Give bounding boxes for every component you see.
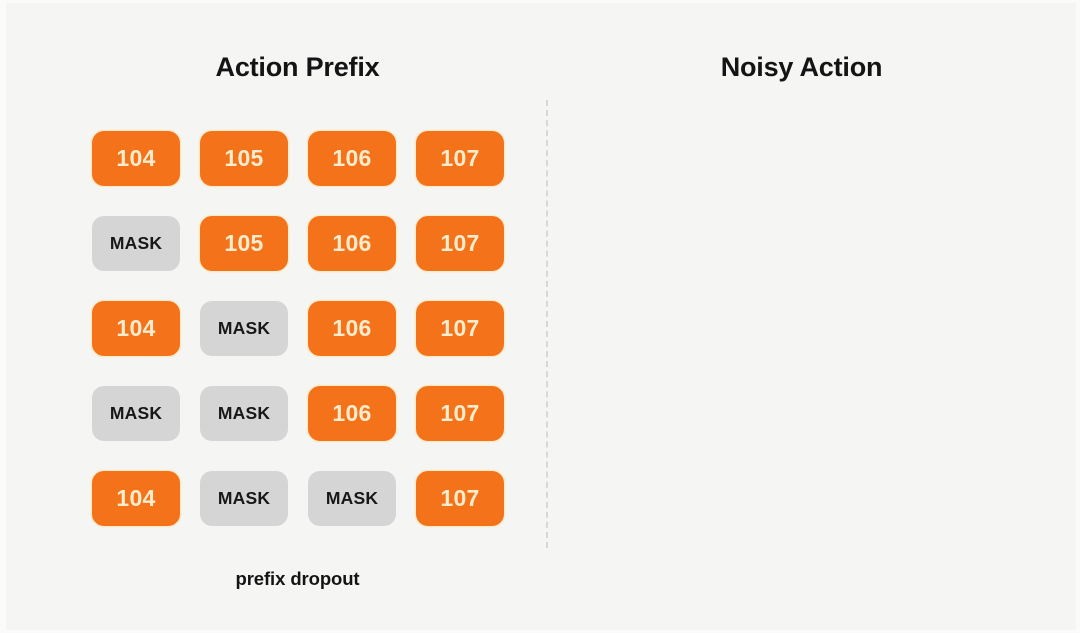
- token-row: MASK105106107: [92, 216, 504, 271]
- token-chip: 107: [416, 471, 504, 526]
- token-chip: 106: [308, 386, 396, 441]
- token-row: 104MASKMASK107: [92, 471, 504, 526]
- token-grid-action-prefix: 104105106107MASK105106107104MASK106107MA…: [92, 131, 504, 526]
- token-chip: 104: [92, 471, 180, 526]
- token-chip: 106: [308, 131, 396, 186]
- token-row: MASKMASK106107: [92, 386, 504, 441]
- token-chip: 105: [200, 131, 288, 186]
- token-chip: 106: [308, 216, 396, 271]
- mask-chip: MASK: [308, 471, 396, 526]
- mask-chip: MASK: [200, 301, 288, 356]
- figure-canvas: Action Prefix 104105106107MASK1051061071…: [0, 0, 1080, 633]
- token-chip: 107: [416, 131, 504, 186]
- panel-title-noisy-action: Noisy Action: [532, 47, 1071, 87]
- token-chip: 107: [416, 216, 504, 271]
- mask-chip: MASK: [92, 386, 180, 441]
- token-chip: 107: [416, 386, 504, 441]
- token-chip: 104: [92, 131, 180, 186]
- token-row: 104105106107: [92, 131, 504, 186]
- token-chip: 105: [200, 216, 288, 271]
- mask-chip: MASK: [200, 386, 288, 441]
- token-chip: 104: [92, 301, 180, 356]
- panel-action-prefix: Action Prefix 104105106107MASK1051061071…: [6, 3, 541, 636]
- panel-title-action-prefix: Action Prefix: [30, 47, 565, 87]
- token-chip: 106: [308, 301, 396, 356]
- caption-prefix-dropout: prefix dropout: [30, 565, 565, 593]
- panel-noisy-action: Noisy Action 117118119120117118119120117…: [547, 3, 1080, 636]
- token-row: 104MASK106107: [92, 301, 504, 356]
- mask-chip: MASK: [200, 471, 288, 526]
- mask-chip: MASK: [92, 216, 180, 271]
- token-chip: 107: [416, 301, 504, 356]
